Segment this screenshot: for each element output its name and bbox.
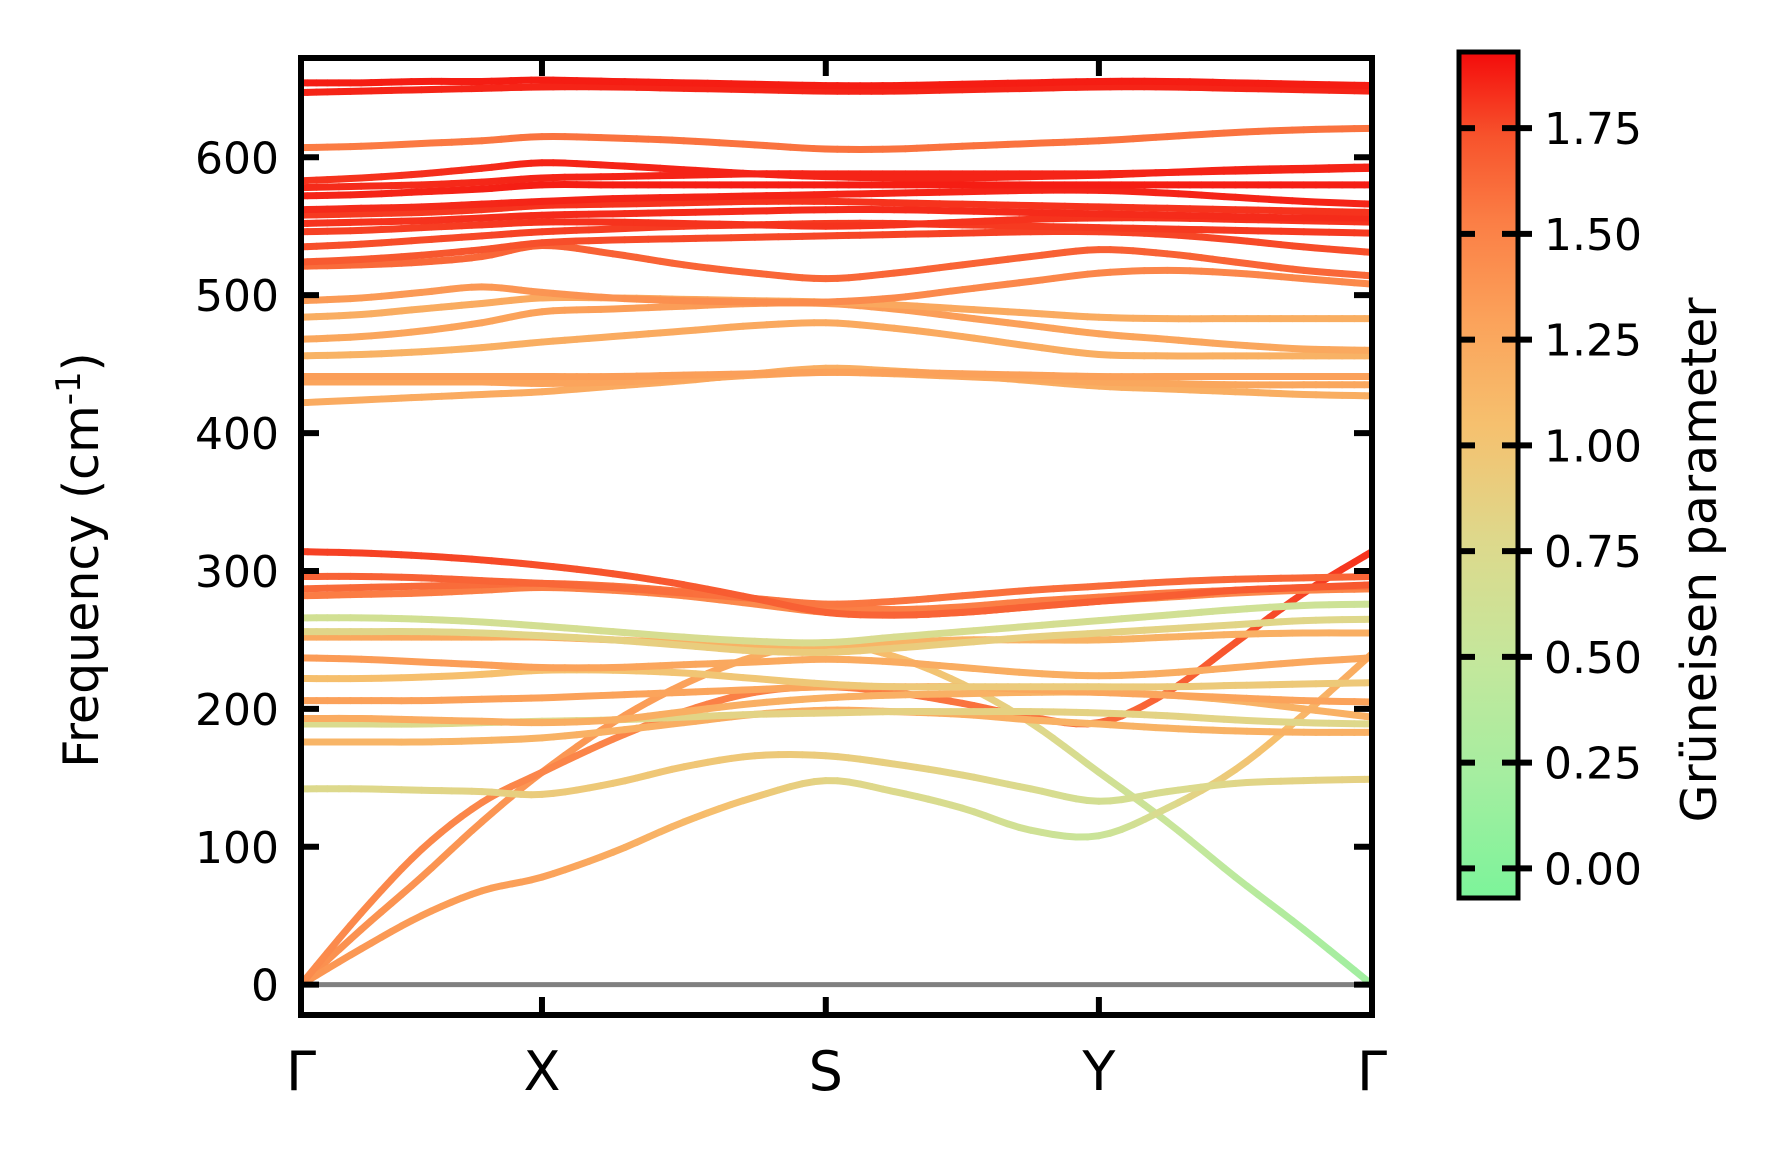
y-tick-label: 300 <box>195 547 279 598</box>
x-tick-label-0: Γ <box>286 1040 316 1103</box>
x-tick-label-3: Y <box>1081 1040 1116 1103</box>
y-tick-label: 200 <box>195 685 279 736</box>
y-tick-label: 600 <box>195 133 279 184</box>
y-tick-label: 100 <box>195 823 279 874</box>
y-tick-label: 500 <box>195 271 279 322</box>
colorbar-tick-label: 0.50 <box>1544 633 1642 684</box>
y-tick-label: 400 <box>195 409 279 460</box>
colorbar-tick-label: 0.00 <box>1544 844 1642 895</box>
phonon-band-structure-figure: 0100200300400500600 ΓXSYΓ Frequency (cm-… <box>0 0 1765 1162</box>
y-axis-title: Frequency (cm-1) <box>49 352 110 768</box>
colorbar-gradient <box>1459 52 1518 898</box>
x-tick-label-4: Γ <box>1357 1040 1387 1103</box>
colorbar-tick-label: 1.75 <box>1544 104 1642 155</box>
y-tick-label: 0 <box>251 961 279 1012</box>
x-tick-label-1: X <box>523 1040 560 1103</box>
colorbar-tick-label: 0.25 <box>1544 739 1642 790</box>
svg-text:Frequency (cm-1): Frequency (cm-1) <box>49 352 110 768</box>
colorbar-tick-label: 1.50 <box>1544 210 1642 261</box>
x-tick-label-2: S <box>809 1040 843 1103</box>
colorbar-tick-label: 1.00 <box>1544 421 1642 472</box>
colorbar-title: Grüneisen parameter <box>1671 297 1728 823</box>
colorbar-tick-label: 1.25 <box>1544 316 1642 367</box>
colorbar-tick-label: 0.75 <box>1544 527 1642 578</box>
figure-canvas: 0100200300400500600 ΓXSYΓ Frequency (cm-… <box>0 0 1765 1162</box>
